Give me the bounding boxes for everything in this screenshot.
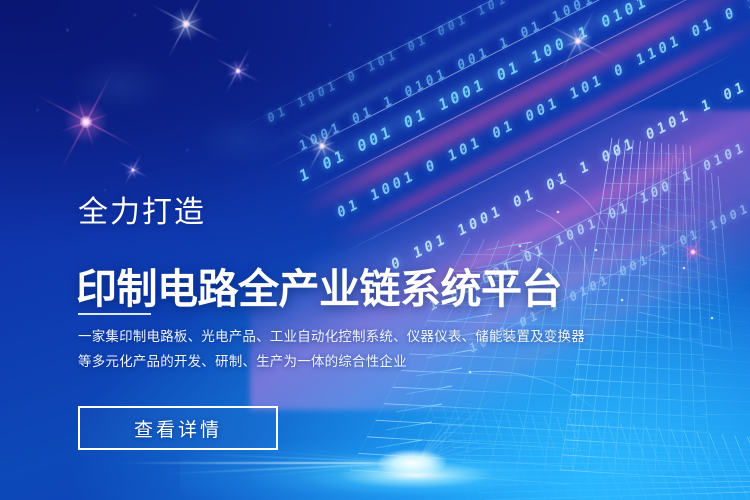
description-line-1: 一家集印制电路板、光电产品、工业自动化控制系统、仪器仪表、储能装置及变换器 xyxy=(78,324,558,349)
page-title: 印制电路全产业链系统平台 xyxy=(76,265,562,313)
hero-banner: 1 01 001 01 1001 01 100 1 0101 001 10 1 … xyxy=(0,0,750,500)
description-text: 一家集印制电路板、光电产品、工业自动化控制系统、仪器仪表、储能装置及变换器 等多… xyxy=(78,324,558,374)
description-line-2: 等多元化产品的开发、研制、生产为一体的综合性企业 xyxy=(78,349,558,374)
glint-halo xyxy=(683,242,703,262)
title-divider xyxy=(78,313,151,315)
eyebrow-text: 全力打造 xyxy=(78,196,206,230)
view-details-button[interactable]: 查看详情 xyxy=(78,406,278,450)
glint-ray xyxy=(689,239,698,264)
glint-ray xyxy=(680,247,705,257)
glint-core xyxy=(690,249,696,255)
hero-content: 全力打造 印制电路全产业链系统平台 一家集印制电路板、光电产品、工业自动化控制系… xyxy=(78,0,678,500)
glint-ray xyxy=(680,228,706,276)
